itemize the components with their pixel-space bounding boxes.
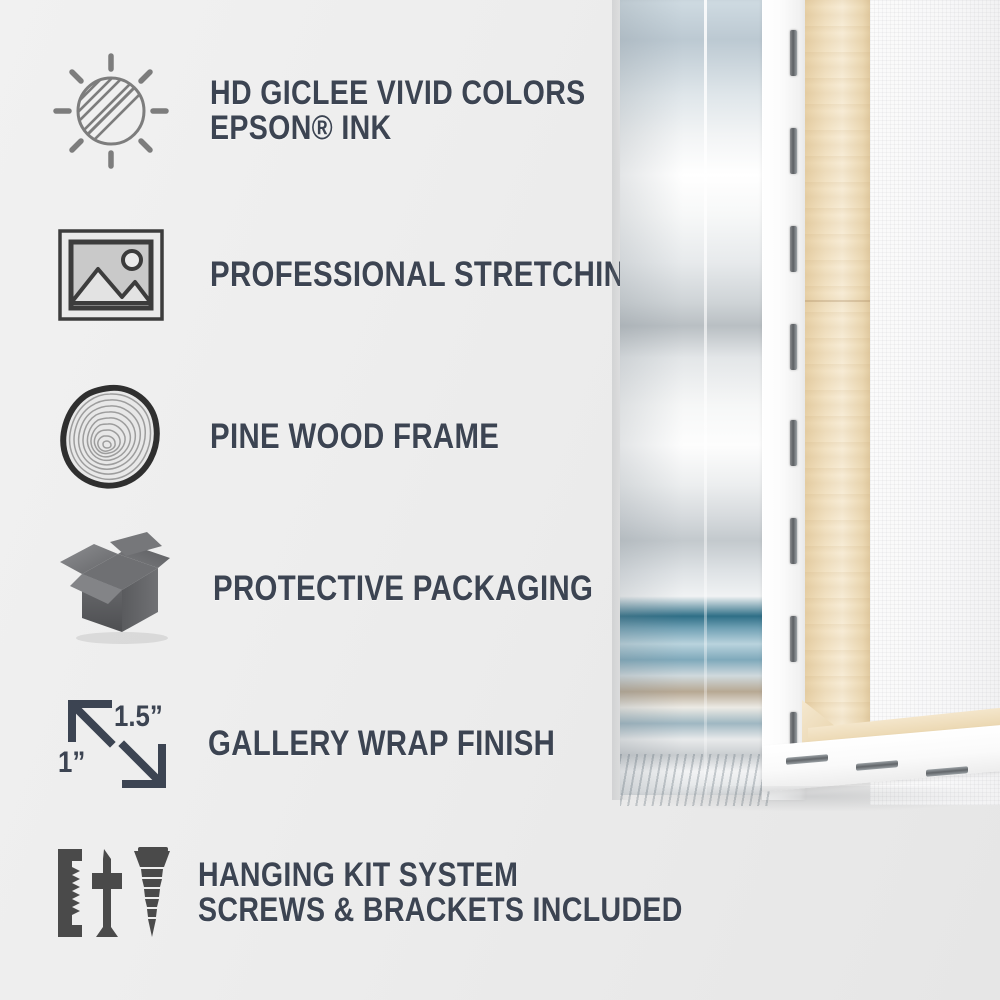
feature-label-packaging: PROTECTIVE PACKAGING — [213, 571, 593, 607]
frame-bottom-corner — [762, 700, 1000, 812]
white-canvas-fold — [762, 0, 806, 800]
staple — [790, 324, 797, 370]
staple — [790, 616, 797, 662]
sun-hatched-icon — [52, 52, 170, 170]
staple — [790, 420, 797, 466]
staple — [790, 518, 797, 564]
dimension-label-bottom: 1” — [58, 746, 85, 780]
framed-picture-icon — [52, 225, 170, 325]
hanging-hardware-icon — [52, 845, 172, 941]
canvas-backing — [870, 0, 1000, 805]
feature-label-hanging: HANGING KIT SYSTEM SCREWS & BRACKETS INC… — [198, 858, 683, 929]
canvas-edge-photo — [612, 0, 1000, 812]
wood-grain-seam — [805, 300, 873, 302]
dimension-label-top: 1.5” — [114, 700, 163, 734]
feature-row-packaging: PROTECTIVE PACKAGING — [52, 532, 666, 647]
feature-row-giclee: HD GICLEE VIVID COLORS EPSON® INK — [52, 52, 657, 170]
feature-label-pine: PINE WOOD FRAME — [210, 419, 499, 455]
dimension-arrows-icon: 1.5” 1” — [52, 692, 180, 796]
open-box-icon — [52, 532, 177, 647]
feature-label-wrap: GALLERY WRAP FINISH — [208, 726, 555, 762]
canvas-corner-fold — [704, 0, 707, 795]
feature-row-pine: PINE WOOD FRAME — [52, 382, 554, 492]
pine-stretcher-bar — [805, 0, 873, 760]
printed-edge-shading — [620, 0, 704, 795]
staple — [790, 128, 797, 174]
feature-row-hanging: HANGING KIT SYSTEM SCREWS & BRACKETS INC… — [52, 845, 775, 941]
feature-row-wrap: 1.5” 1” GALLERY WRAP FINISH — [52, 692, 621, 796]
tree-rings-icon — [52, 382, 170, 492]
staple — [790, 226, 797, 272]
infographic-canvas: HD GICLEE VIVID COLORS EPSON® INK PROFES… — [0, 0, 1000, 1000]
feature-label-giclee: HD GICLEE VIVID COLORS EPSON® INK — [210, 76, 586, 147]
feature-label-stretching: PROFESSIONAL STRETCHING — [210, 257, 648, 293]
staple — [790, 30, 797, 76]
frame-drop-shadow — [622, 786, 1000, 812]
